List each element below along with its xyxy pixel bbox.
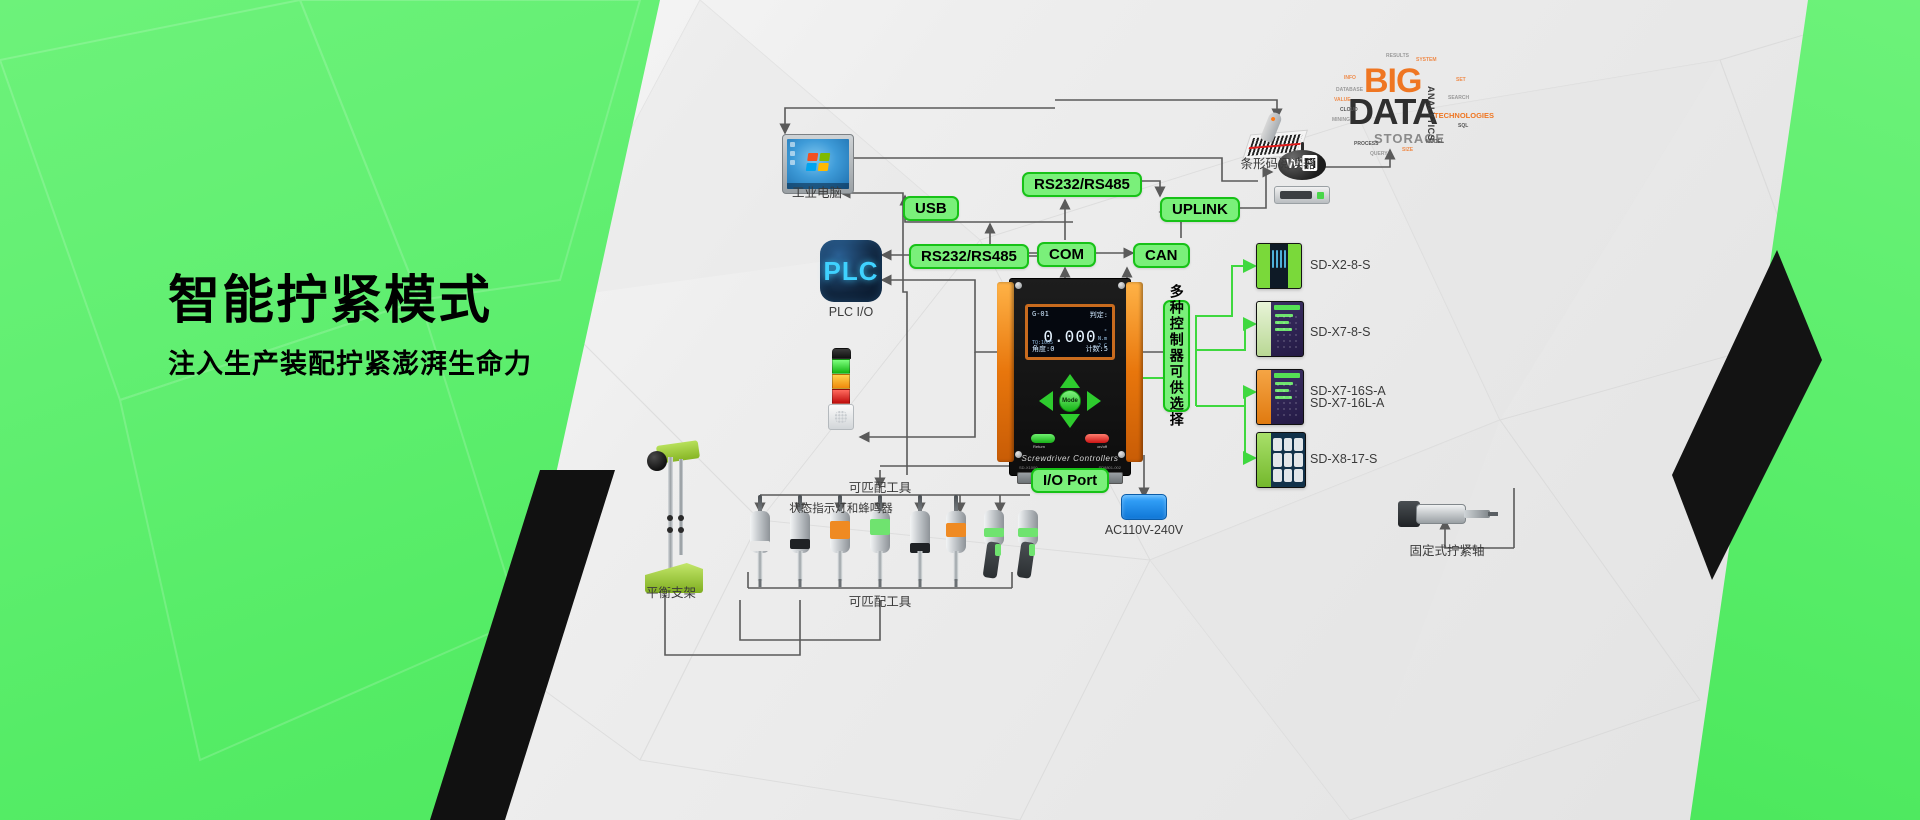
- status-light-label: 状态指示灯和蜂鸣器: [776, 500, 906, 516]
- lcd-verdict-label: 判定:: [1090, 310, 1108, 320]
- fixed-spindle-label: 固定式拧紧轴: [1383, 540, 1511, 559]
- page-title: 智能拧紧模式: [168, 272, 728, 332]
- big-data-word-technologies: TECHNOLOGIES: [1434, 112, 1494, 120]
- balance-arm-icon: [637, 443, 707, 593]
- power-button[interactable]: [1085, 434, 1109, 443]
- plc-icon: PLC: [820, 240, 882, 302]
- lcd-unit-main: N.m: [1098, 336, 1107, 343]
- plc-device[interactable]: PLC: [820, 240, 882, 302]
- plc-badge-text: PLC: [824, 256, 879, 287]
- lcd-count-label: 计数:5: [1086, 344, 1108, 354]
- controller-model-label-2: SD-X7-8-S: [1310, 325, 1370, 339]
- page-subtitle: 注入生产装配拧紧澎湃生命力: [168, 342, 728, 381]
- big-data-cloud: BIG DATA STORAGE ANALYTICS TECHNOLOGIES …: [1330, 48, 1480, 178]
- screwdriver-controller-device: G-01 判定: 0.000 ° N.m 2 C TQ:1005 角度:0 计数…: [995, 278, 1145, 476]
- controller-brand-text: Screwdriver Controllers: [995, 454, 1145, 463]
- spindle-icon: [1398, 498, 1494, 532]
- banner-stage: 智能拧紧模式 注入生产装配拧紧澎湃生命力: [0, 0, 1920, 820]
- power-adapter[interactable]: [1121, 494, 1167, 520]
- port-usb[interactable]: USB: [903, 196, 959, 221]
- arrow-up-icon[interactable]: [1060, 374, 1080, 388]
- mode-button[interactable]: Mode: [1059, 390, 1081, 412]
- controller-model-sd-x2-8-s[interactable]: [1256, 243, 1302, 289]
- industrial-pc-label: 工业电脑: [757, 182, 877, 201]
- controller-model-label-3b: SD-X7-16L-A: [1310, 396, 1384, 410]
- lcd-angle-label: 角度:0: [1032, 344, 1054, 354]
- port-com[interactable]: COM: [1037, 242, 1096, 267]
- controller-options-label: 多种控制器可供选择: [1163, 300, 1190, 412]
- port-rs232-left[interactable]: RS232/RS485: [909, 244, 1029, 269]
- system-diagram: 工业电脑 条形码阅读器 WiFi BIG DATA STORAGE ANALYT…: [0, 0, 1920, 820]
- signal-tower-icon: [828, 348, 854, 438]
- main-controller[interactable]: G-01 判定: 0.000 ° N.m 2 C TQ:1005 角度:0 计数…: [995, 278, 1145, 476]
- controller-model-sd-x8-17-s[interactable]: [1256, 432, 1306, 488]
- tool-item-6[interactable]: [944, 495, 968, 581]
- tool-item-7[interactable]: [982, 498, 1006, 584]
- status-light-tower[interactable]: [828, 348, 854, 438]
- controller-keypad[interactable]: Mode: [1039, 374, 1101, 428]
- power-adapter-icon: [1121, 494, 1167, 520]
- power-adapter-label: AC110V-240V: [1098, 523, 1190, 537]
- big-data-word-data: DATA: [1348, 94, 1437, 130]
- port-rs232-barcode[interactable]: RS232/RS485: [1022, 172, 1142, 197]
- barcode-reader-label: 条形码阅读器: [1216, 153, 1340, 172]
- hero-copy: 智能拧紧模式 注入生产装配拧紧澎湃生命力: [168, 272, 728, 381]
- controller-model-label-4: SD-X8-17-S: [1310, 452, 1377, 466]
- return-button-label: Return: [1033, 444, 1045, 449]
- controller-model-label-1: SD-X2-8-S: [1310, 258, 1370, 272]
- controller-model-sd-x7-8-s[interactable]: [1256, 301, 1304, 357]
- port-io[interactable]: I/O Port: [1031, 468, 1109, 493]
- return-button[interactable]: [1031, 434, 1055, 443]
- arrow-left-icon[interactable]: [1039, 391, 1053, 411]
- balance-arm[interactable]: [637, 443, 707, 593]
- tool-item-5[interactable]: [908, 495, 932, 581]
- balance-arm-label: 平衡支架: [616, 582, 726, 601]
- tool-item-1[interactable]: [748, 495, 772, 581]
- plc-label: PLC I/O: [811, 305, 891, 319]
- lcd-unit-top: °: [1098, 329, 1107, 336]
- port-uplink[interactable]: UPLINK: [1160, 197, 1240, 222]
- arrow-down-icon[interactable]: [1060, 414, 1080, 428]
- fixed-spindle[interactable]: [1398, 498, 1494, 532]
- port-can[interactable]: CAN: [1133, 243, 1190, 268]
- compatible-tools-label-top: 可匹配工具: [810, 477, 950, 496]
- tool-item-8[interactable]: [1016, 498, 1040, 584]
- lcd-program-label: G-01: [1032, 310, 1049, 318]
- controller-lcd-screen: G-01 判定: 0.000 ° N.m 2 C TQ:1005 角度:0 计数…: [1025, 304, 1115, 360]
- power-button-label: on/off: [1097, 444, 1107, 449]
- arrow-right-icon[interactable]: [1087, 391, 1101, 411]
- controller-model-sd-x7-16[interactable]: [1256, 369, 1304, 425]
- compatible-tools-label-bottom: 可匹配工具: [810, 591, 950, 610]
